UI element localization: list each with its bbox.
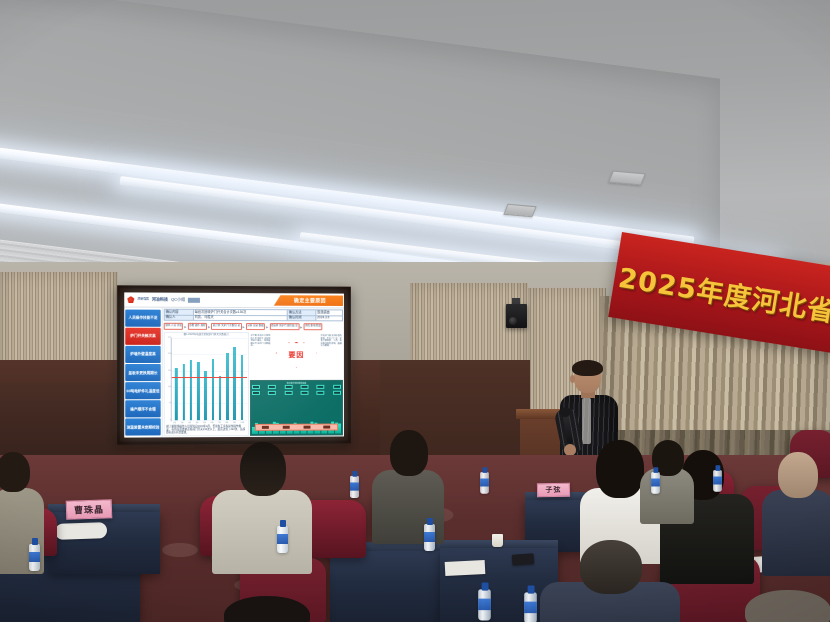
water-bottle-9[interactable] (713, 465, 722, 491)
table-row: 确认人 刘凯、马胜天 确认时间 2024.3.9 (164, 315, 342, 321)
hmi-pink-cell (262, 426, 269, 429)
water-bottle-7[interactable] (524, 586, 537, 622)
bottle-label (524, 602, 537, 614)
info-value-2: 刘凯、马胜天 (193, 315, 287, 321)
starburst-right-text: 开关炉门频 次对炉温的 影响，开关 门一次，炉 温下降明显 ，人员、机 台等均有… (321, 335, 342, 348)
bottle-cap (427, 518, 433, 525)
attendee-head (0, 452, 30, 492)
slide-cause-column: 人员操作技能不足 炉门开关频次高 炉墙外壁温度高 盖板未更换周期长 60吨电炉件… (124, 308, 162, 438)
chart-y-tick-label: 200 (168, 353, 171, 355)
chart-bar (204, 371, 207, 420)
hmi-bar (338, 424, 341, 434)
attendee-foreground (540, 540, 680, 622)
attendee-center-left (212, 442, 316, 572)
slide-lower-section: 图1 2024年每班次回转炉门开关次数统计 050100150200250 1班… (164, 332, 343, 437)
water-bottle-5[interactable] (480, 467, 489, 493)
bottle-cap (481, 583, 488, 591)
slide-header-block (188, 297, 200, 302)
hmi-screenshot: 电炉操作控制系统画面 (250, 380, 343, 436)
attendee-left (0, 452, 50, 572)
bottle-cap (32, 538, 38, 545)
attendee-body (762, 490, 830, 576)
wall-speaker-icon (506, 304, 527, 328)
bottle-label (350, 482, 359, 490)
arrow-right-icon: ▶ (184, 325, 186, 329)
paper-sheet-4[interactable] (55, 522, 108, 540)
attendee-bottom-left (224, 596, 310, 622)
info-label-2: 确认人 (164, 315, 193, 321)
bottle-label (651, 479, 660, 487)
bottle-cap (715, 465, 720, 471)
slide-bar-chart: 图1 2024年每班次回转炉门开关次数统计 050100150200250 1班… (164, 332, 249, 437)
cause-label-1: 人员操作技能不足 (125, 310, 160, 327)
bottle-label (29, 552, 40, 562)
hmi-pink-cell (283, 426, 290, 429)
hmi-cell (317, 391, 325, 395)
attendee-head (596, 440, 644, 498)
attendee-far-right (762, 452, 830, 572)
water-bottle-2[interactable] (277, 520, 288, 553)
name-placard-center[interactable]: 子弦 (537, 483, 570, 498)
arrow-right-icon: ▶ (300, 325, 302, 329)
cause-label-3: 炉墙外壁温度高 (125, 346, 160, 363)
hmi-cell (301, 391, 309, 395)
conference-room-photo: 2025年度河北省冶金 质量强国 河冶科技 QC小组 确定主要原因 (0, 0, 830, 622)
hmi-cell (268, 391, 276, 395)
bottle-label (713, 477, 722, 485)
paper-cup[interactable] (492, 534, 503, 547)
flow-node-2: 查看 操作 规程 (188, 323, 207, 330)
chart-bars (172, 338, 247, 420)
starburst-badge: 要因 (276, 342, 318, 368)
slide-info-table: 确认内容 每班次回转炉门开关合计次数≥130次 确认方法 现场调查 确认人 刘凯… (164, 309, 343, 322)
projection-screen-frame: 质量强国 河冶科技 QC小组 确定主要原因 人员操作技能不足 炉门开关频次高 炉… (117, 285, 351, 444)
cause-label-6: 操产顺序不合理 (125, 401, 160, 418)
hmi-cell (252, 391, 260, 395)
hmi-cell-row-1 (252, 385, 341, 389)
attendee-head (224, 596, 310, 622)
chart-y-tick-label: 250 (168, 337, 171, 339)
chart-target-line (172, 376, 247, 377)
projection-screen[interactable]: 质量强国 河冶科技 QC小组 确定主要原因 人员操作技能不足 炉门开关频次高 炉… (124, 292, 344, 437)
info-value-2b: 2024.3.9 (316, 315, 343, 321)
chart-bar (190, 360, 193, 420)
attendee-head (390, 430, 428, 476)
slide-qc-group: QC小组 (171, 297, 185, 303)
hmi-cell (333, 391, 341, 395)
arrow-right-icon: ▶ (208, 325, 210, 329)
attendee-right-mid (640, 440, 696, 510)
cause-label-4: 盖板未更换周期长 (125, 364, 160, 381)
slide-header: 质量强国 河冶科技 QC小组 确定主要原因 (124, 292, 344, 308)
chart-bar (197, 362, 200, 420)
name-placard-left[interactable]: 曹珠晶 (66, 499, 113, 520)
presenter-hair (572, 360, 603, 376)
starburst-left-text: 对了解 本次运 行现场 的人员 电炉工 次在现 场进行 确认， 经测量 确认开 … (251, 335, 273, 348)
bottle-label (424, 532, 435, 542)
hmi-pink-panel (255, 424, 339, 431)
water-bottle-1[interactable] (29, 538, 40, 571)
chart-bar (219, 376, 222, 419)
cause-label-5: 60吨电炉件礼温度低 (125, 382, 160, 399)
info-label-2b: 确认时间 (287, 315, 315, 321)
bottle-label (277, 534, 288, 544)
hmi-cell (284, 385, 292, 389)
hmi-cell (301, 385, 309, 389)
slide-content-column: 确认内容 每班次回转炉门开关合计次数≥130次 确认方法 现场调查 确认人 刘凯… (163, 308, 344, 438)
attendee-bottom-right (745, 590, 830, 622)
attendee-head (580, 540, 642, 594)
arrow-right-icon: ▶ (266, 325, 268, 329)
hmi-cell (284, 391, 292, 395)
chart-bar (241, 355, 244, 419)
chart-bar (233, 347, 236, 420)
flow-node-4: 分析 记录 数据 (246, 323, 265, 330)
presenter-shirt-front (582, 398, 591, 444)
water-bottle-3[interactable] (350, 471, 359, 498)
bottle-cap (653, 467, 658, 473)
flow-node-3: 统计开 关炉门 次数记 录 (211, 323, 241, 330)
starburst-section: 对了解 本次运 行现场 的人员 电炉工 次在现 场进行 确认， 经测量 确认开 … (250, 332, 343, 379)
flow-node-1: 现场 人员 访谈 (164, 323, 184, 330)
table-left-mid (48, 512, 160, 574)
bottle-cap (280, 520, 286, 527)
water-bottle-8[interactable] (651, 467, 660, 493)
company-logo-icon (127, 296, 134, 303)
slide-right-box: 对了解 本次运 行现场 的人员 电炉工 次在现 场进行 确认， 经测量 确认开 … (250, 332, 343, 436)
bottle-label (478, 599, 491, 611)
attendee-head (778, 452, 818, 498)
hmi-pink-cell (303, 426, 310, 429)
chart-plot-area: 050100150200250 (171, 338, 247, 421)
attendee-body (640, 468, 694, 524)
slide-section-banner: 确定主要原因 (274, 295, 343, 306)
mobile-phone[interactable] (512, 553, 535, 566)
logo-subtext: 质量强国 (137, 298, 148, 301)
chart-bar (212, 359, 215, 420)
chart-y-tick-label: 100 (168, 386, 171, 388)
paper-sheet-1[interactable] (445, 560, 486, 576)
bottle-label (480, 479, 489, 487)
presenter-ear (570, 375, 575, 383)
bottle-cap (527, 586, 534, 594)
water-bottle-4[interactable] (424, 518, 435, 551)
flow-node-5: 得出开 关炉门 频次结 论 (269, 323, 299, 330)
arrow-right-icon: ▶ (242, 325, 244, 329)
chart-bar (182, 364, 185, 420)
hmi-cell (317, 385, 325, 389)
water-bottle-6[interactable] (478, 583, 491, 621)
cause-label-7: 测温装置未定期校验 (125, 419, 160, 436)
hmi-pink-cell (323, 426, 330, 429)
bottle-cap (482, 467, 487, 473)
attendee-head (745, 590, 830, 622)
slide-body: 人员操作技能不足 炉门开关频次高 炉墙外壁温度高 盖板未更换周期长 60吨电炉件… (124, 308, 344, 438)
cause-label-2: 炉门开关频次高 (125, 328, 160, 345)
chart-title: 图1 2024年每班次回转炉门开关次数统计 (166, 334, 247, 337)
hmi-cell (252, 385, 260, 389)
slide-flow-diagram: 现场 人员 访谈 ▶ 查看 操作 规程 ▶ 统计开 关炉门 次数记 录 ▶ 分析… (164, 322, 343, 331)
bottle-cap (352, 471, 357, 477)
chart-bar (226, 353, 229, 420)
presentation-slide: 质量强国 河冶科技 QC小组 确定主要原因 人员操作技能不足 炉门开关频次高 炉… (124, 292, 344, 437)
hmi-cell (268, 385, 276, 389)
hmi-cell-row-2 (252, 391, 341, 395)
attendee-body (212, 490, 312, 574)
hmi-cell (333, 385, 341, 389)
flow-node-6: 评估 影响 程度 (303, 324, 322, 331)
chart-y-tick-label: 150 (168, 370, 171, 372)
attendee-head (240, 442, 286, 496)
chart-note: 经了解现场操作人员得知自2023年4月，否新各工序各岗位操作规定，有的改变要求点… (166, 424, 247, 435)
slide-org-name: 河冶科技 (152, 297, 168, 303)
